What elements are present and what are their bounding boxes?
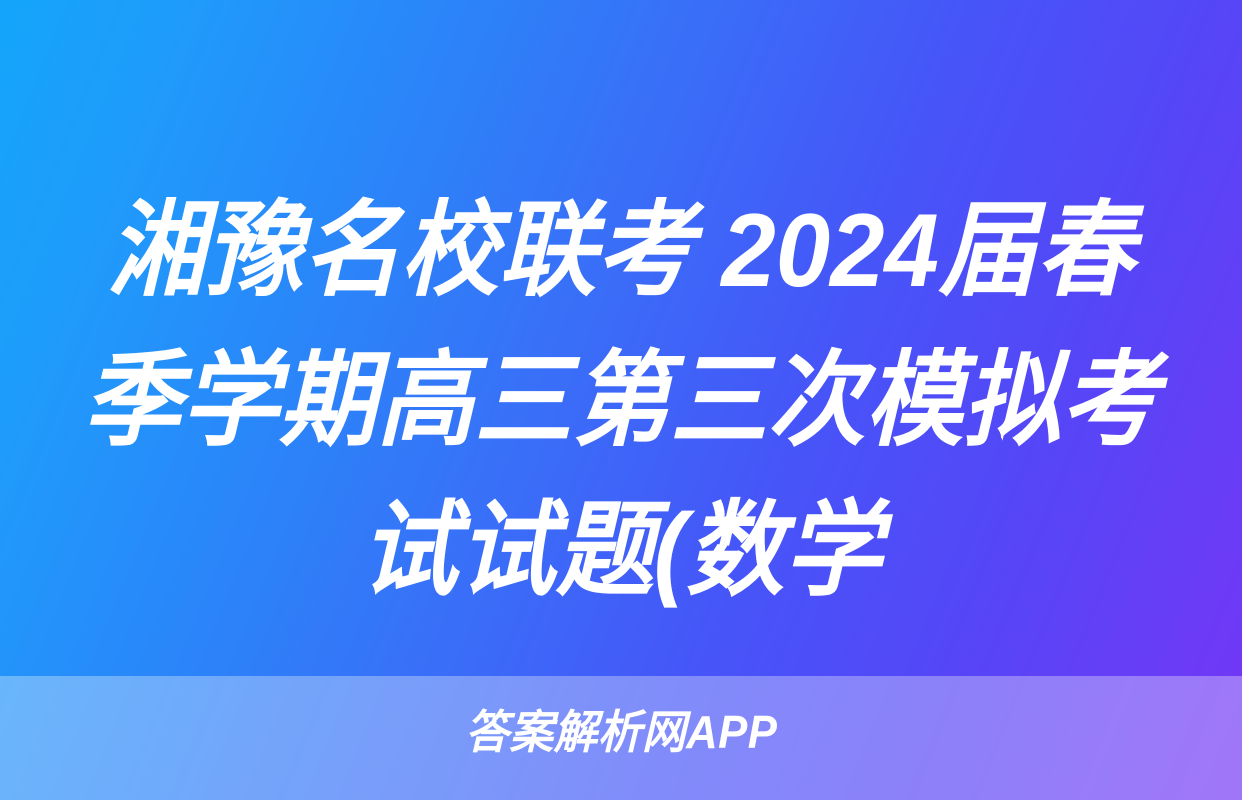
share-card: 湘豫名校联考 2024届春 季学期高三第三次模拟考 试试题(数学 答案解析网AP… bbox=[0, 0, 1242, 800]
footer-overlay-band bbox=[0, 676, 1242, 800]
